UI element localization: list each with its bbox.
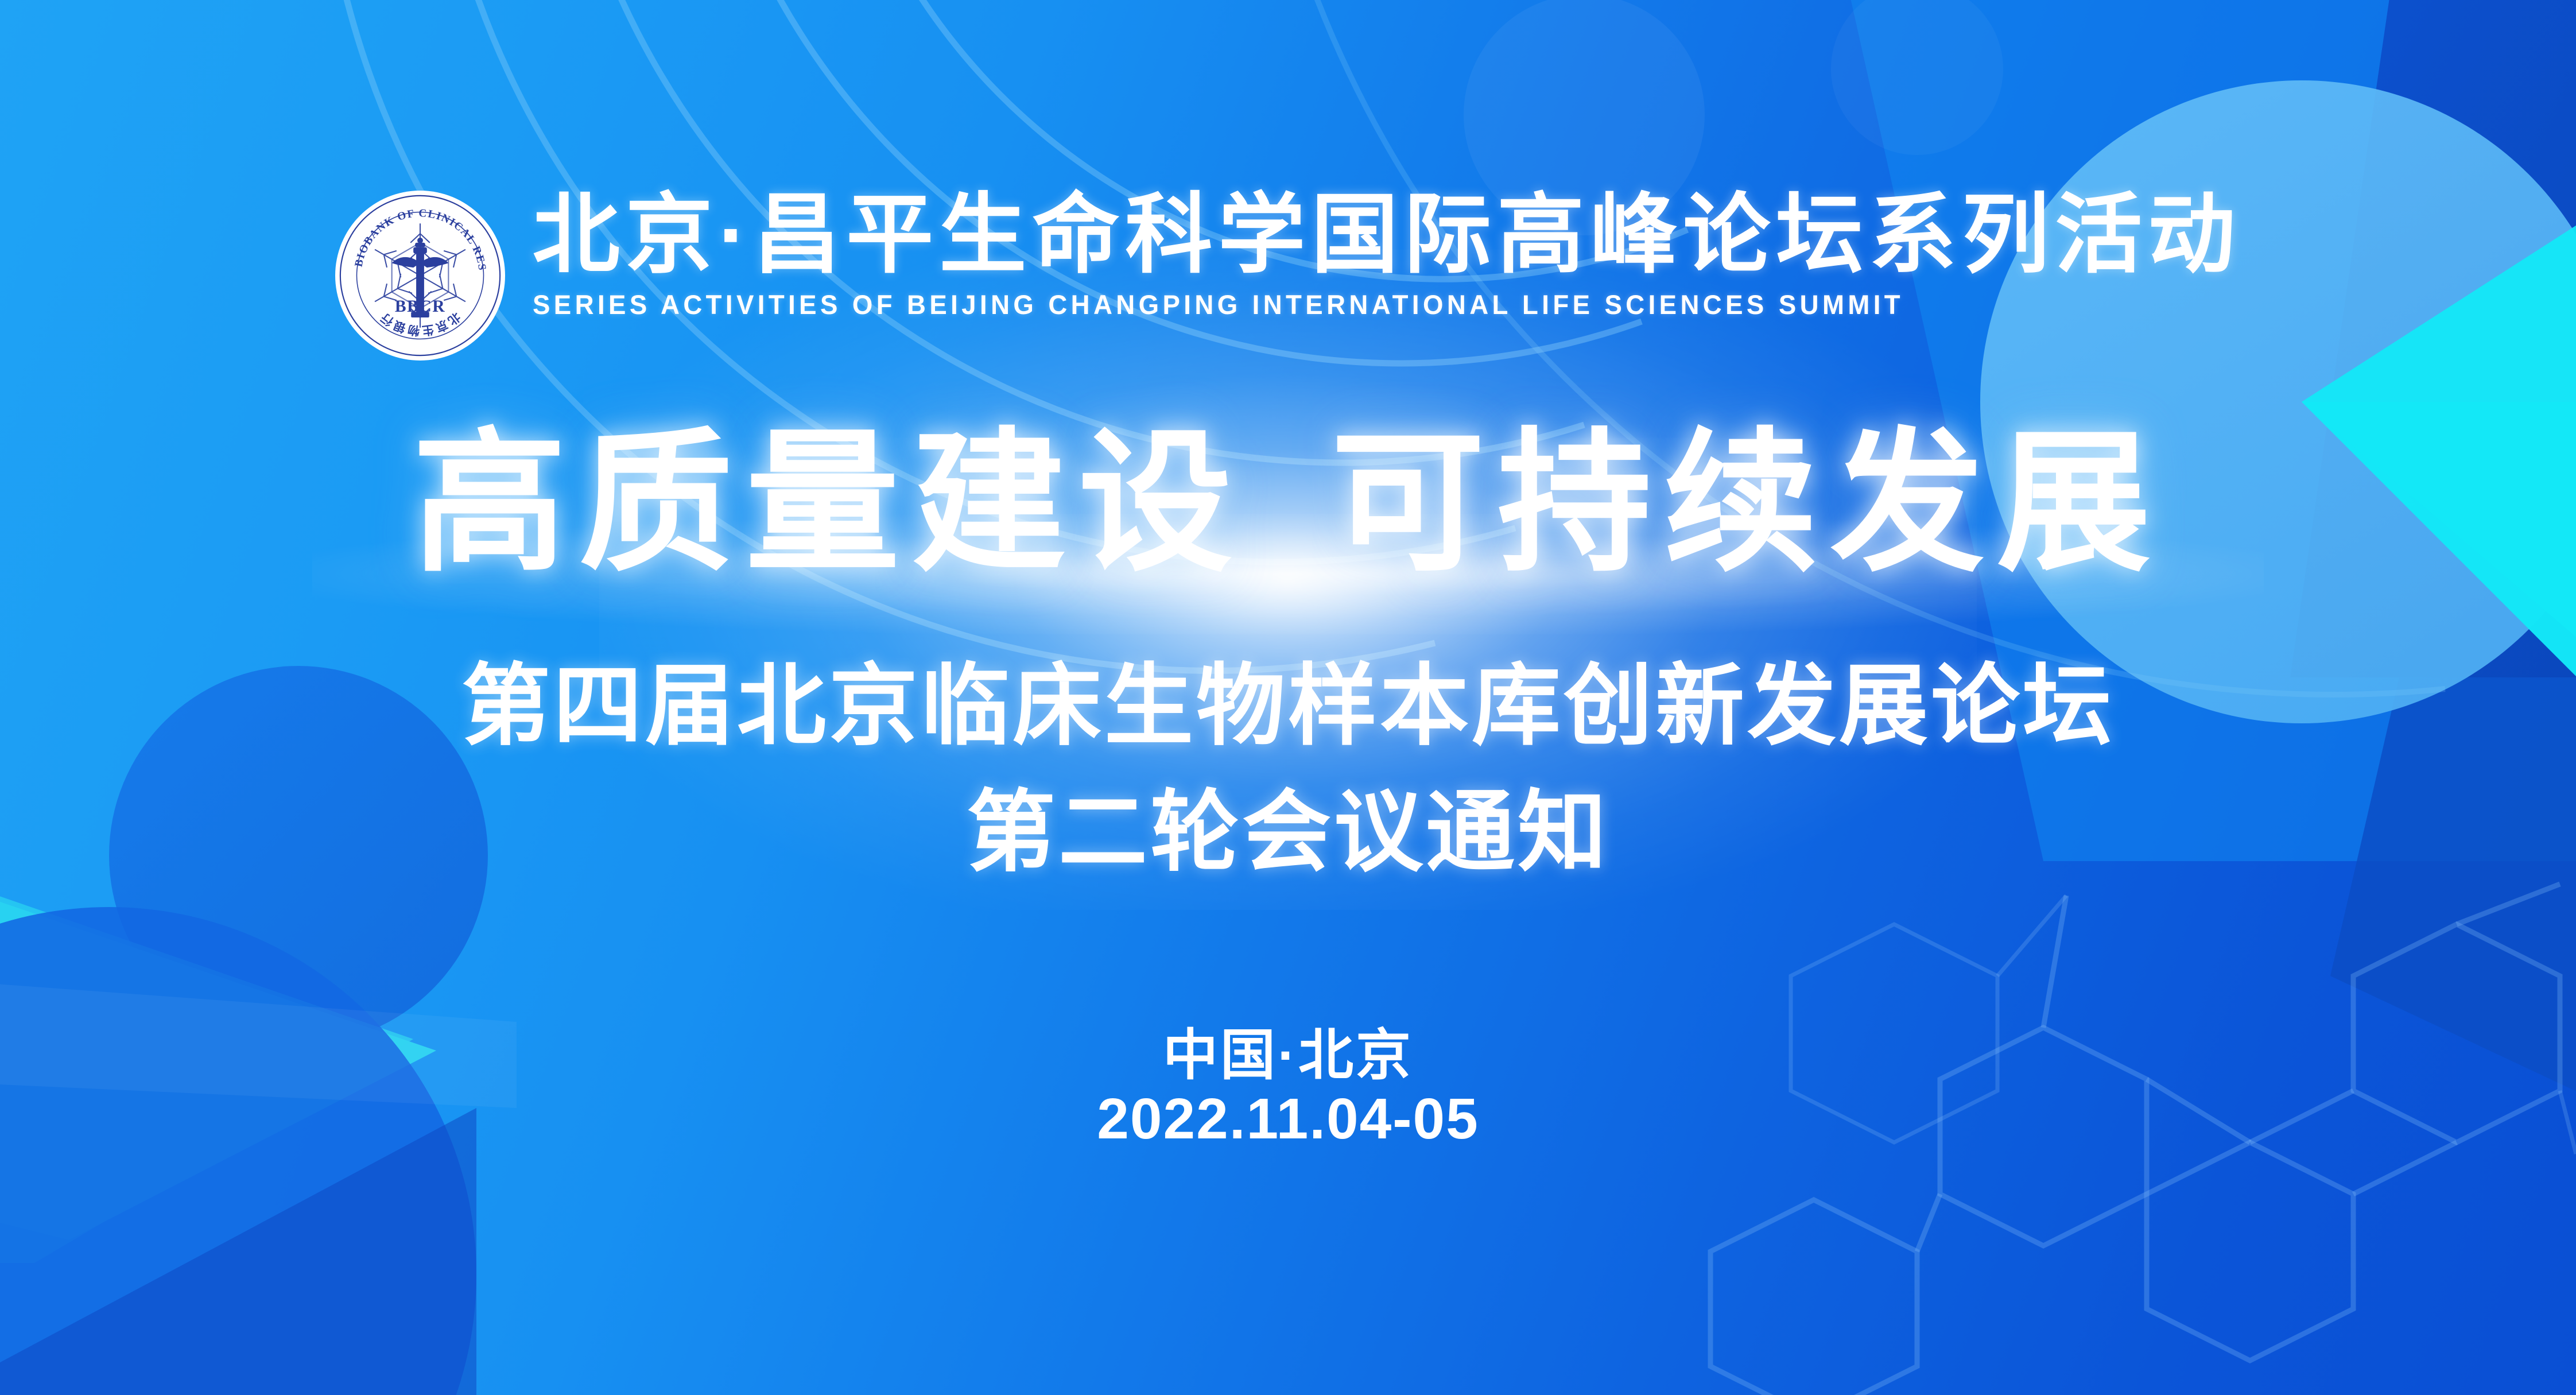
forum-name: 第四届北京临床生物样本库创新发展论坛 (0, 659, 2576, 753)
organization-title-block: 北京·昌平生命科学国际高峰论坛系列活动 SERIES ACTIVITIES OF… (533, 183, 2241, 320)
venue-location: 中国·北京 (0, 1010, 2576, 1090)
event-date: 2022.11.04-05 (0, 1086, 2576, 1152)
header-lockup: BBCR BEIJING BIOBANK OF CLINICAL RESOURC… (0, 183, 2576, 361)
headline-part-2: 可持续发展 (1331, 417, 2163, 589)
notice-round: 第二轮会议通知 (0, 785, 2576, 879)
headline-part-1: 高质量建设 (413, 417, 1245, 589)
series-title-cn: 北京·昌平生命科学国际高峰论坛系列活动 (533, 191, 2241, 280)
conference-banner: BBCR BEIJING BIOBANK OF CLINICAL RESOURC… (0, 0, 2576, 1395)
main-headline: 高质量建设可持续发展 (0, 426, 2576, 580)
series-title-en: SERIES ACTIVITIES OF BEIJING CHANGPING I… (533, 289, 2190, 320)
bbcr-seal-logo-icon: BBCR BEIJING BIOBANK OF CLINICAL RESOURC… (335, 191, 505, 361)
svg-text:BBCR: BBCR (395, 297, 445, 316)
